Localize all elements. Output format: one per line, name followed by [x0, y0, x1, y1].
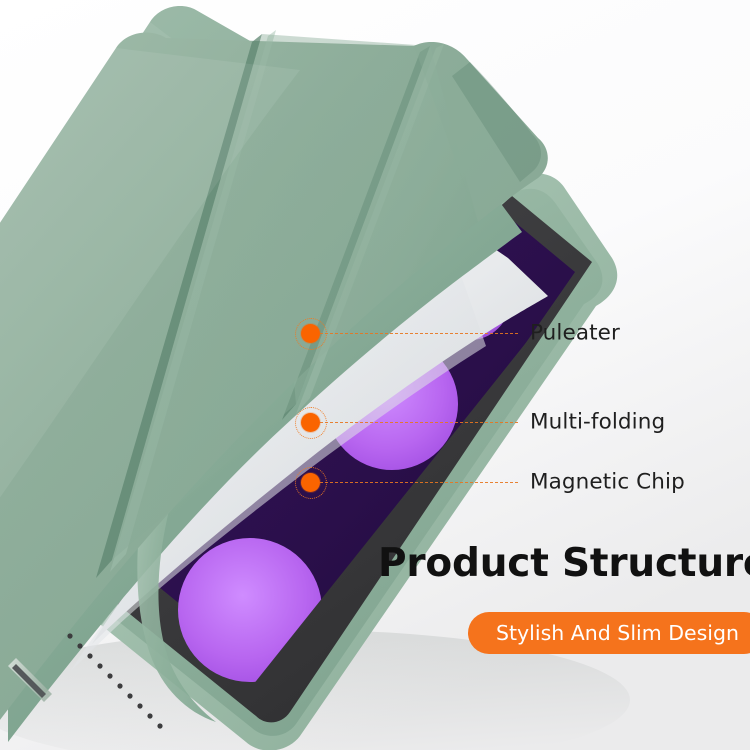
- marker-dot-magnetic-chip[interactable]: [301, 473, 320, 492]
- callout-label-multi-folding: Multi-folding: [530, 410, 665, 435]
- leader-line-puleater: [310, 333, 518, 334]
- callout-label-puleater: Puleater: [530, 321, 620, 346]
- page-title: Product Structure: [378, 541, 750, 586]
- callout-label-magnetic-chip: Magnetic Chip: [530, 470, 685, 495]
- leader-line-magnetic-chip: [310, 482, 518, 483]
- marker-dot-multi-folding[interactable]: [301, 413, 320, 432]
- tagline-badge: Stylish And Slim Design: [468, 612, 750, 654]
- product-structure-infographic: Puleater Multi-folding Magnetic Chip Pro…: [0, 0, 750, 750]
- marker-dot-puleater[interactable]: [301, 324, 320, 343]
- leader-line-multi-folding: [310, 422, 518, 423]
